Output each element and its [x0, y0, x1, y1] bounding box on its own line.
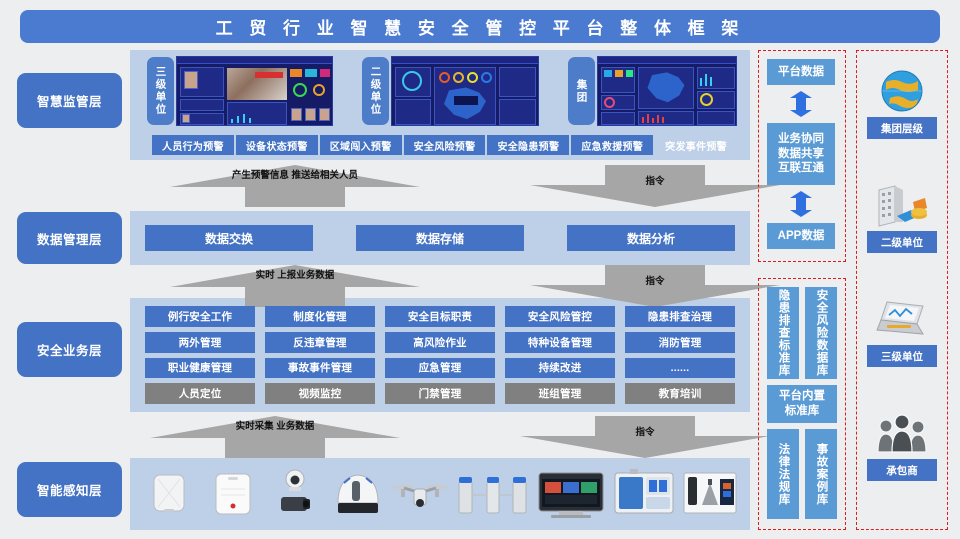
risk-database-library[interactable]: 安全风险数据库 — [805, 287, 837, 379]
warning-tag-behavior[interactable]: 人员行为预警 — [152, 135, 234, 155]
org-label-level3: 三级单位 — [867, 345, 937, 367]
arrow-label-command-3: 指令 — [520, 427, 770, 439]
warning-tag-rescue[interactable]: 应急救援预警 — [571, 135, 653, 155]
org-item-group[interactable]: 集团层级 — [867, 65, 937, 139]
org-item-contractor[interactable]: 承包商 — [867, 407, 937, 481]
arrow-strip-supervision-data: 产生预警信息 推送给相关人员 指令 — [130, 165, 750, 211]
people-group-icon — [867, 407, 937, 459]
business-tile[interactable]: 特种设备管理 — [505, 332, 615, 353]
data-tile-analysis[interactable]: 数据分析 — [567, 225, 735, 251]
org-label-contractor: 承包商 — [867, 459, 937, 481]
unit-tag-group: 集团 — [568, 57, 595, 125]
business-tile[interactable]: 持续改进 — [505, 358, 615, 379]
warning-tag-intrusion[interactable]: 区域闯入预警 — [320, 135, 402, 155]
warning-tag-hazard[interactable]: 安全隐患预警 — [487, 135, 569, 155]
org-item-level3[interactable]: 三级单位 — [867, 293, 937, 367]
org-item-level2[interactable]: 二级单位 — [867, 179, 937, 253]
business-tile[interactable]: 消防管理 — [625, 332, 735, 353]
platform-data-panel: 平台数据 业务协同 数据共享 互联互通 APP数据 — [758, 50, 846, 262]
dashboard-body — [598, 64, 736, 125]
warning-tag-equipment[interactable]: 设备状态预警 — [236, 135, 318, 155]
ptz-camera-icon[interactable] — [265, 465, 325, 523]
org-label-group: 集团层级 — [867, 117, 937, 139]
buildings-icon — [867, 179, 937, 231]
platform-data-box[interactable]: 平台数据 — [767, 59, 835, 85]
warning-tag-emergency[interactable]: 突发事件预警 — [655, 135, 737, 155]
layer-label-business: 安全业务层 — [17, 322, 122, 377]
globe-icon — [867, 65, 937, 117]
dashboard-body — [177, 64, 332, 125]
app-data-box[interactable]: APP数据 — [767, 223, 835, 249]
arrow-label-realtime-report: 实时 上报业务数据 — [170, 270, 420, 282]
layer-label-data: 数据管理层 — [17, 212, 122, 264]
business-tile[interactable]: ...... — [625, 358, 735, 379]
arrow-label-alert-push: 产生预警信息 推送给相关人员 — [170, 170, 420, 182]
person-monitoring-dashboard[interactable] — [176, 56, 333, 126]
vr-projector-icon[interactable] — [680, 465, 740, 523]
map-overview-dashboard[interactable] — [391, 56, 539, 126]
alarm-box-icon[interactable] — [203, 465, 263, 523]
business-tile[interactable]: 制度化管理 — [265, 306, 375, 327]
bidirectional-arrow-bottom — [790, 191, 812, 217]
org-label-level2: 二级单位 — [867, 231, 937, 253]
drone-icon[interactable] — [390, 465, 450, 523]
business-tile[interactable]: 门禁管理 — [385, 383, 495, 404]
business-tile[interactable]: 人员定位 — [145, 383, 255, 404]
arrow-down-command-1: 指令 — [530, 165, 780, 207]
bidirectional-arrow-top — [790, 91, 812, 117]
unit-tag-level3: 三级单位 — [147, 57, 174, 125]
touch-display-icon[interactable] — [535, 465, 607, 523]
business-tile[interactable]: 高风险作业 — [385, 332, 495, 353]
builtin-standard-library[interactable]: 平台内置 标准库 — [767, 385, 837, 423]
business-tile[interactable]: 班组管理 — [505, 383, 615, 404]
data-tile-exchange[interactable]: 数据交换 — [145, 225, 313, 251]
arrow-up-realtime-collect: 实时采集 业务数据 — [150, 416, 400, 458]
business-tile[interactable]: 视频监控 — [265, 383, 375, 404]
page-title: 工 贸 行 业 智 慧 安 全 管 控 平 台 整 体 框 架 — [20, 10, 940, 43]
business-tile[interactable]: 反违章管理 — [265, 332, 375, 353]
turnstile-gate-icon[interactable] — [453, 465, 533, 523]
business-tile[interactable]: 隐患排查治理 — [625, 306, 735, 327]
data-tile-storage[interactable]: 数据存储 — [356, 225, 524, 251]
arrow-strip-business-sense: 实时采集 业务数据 指令 — [130, 416, 750, 462]
hazard-inspection-library[interactable]: 隐患排查标准库 — [767, 287, 799, 379]
business-tile[interactable]: 例行安全工作 — [145, 306, 255, 327]
business-module-grid: 例行安全工作制度化管理安全目标职责安全风险管控隐患排查治理两外管理反违章管理高风… — [145, 306, 735, 404]
business-tile[interactable]: 教育培训 — [625, 383, 735, 404]
info-kiosk-icon[interactable] — [610, 465, 678, 523]
organization-hierarchy-panel: 集团层级 二级单位 三级单位 承包商 — [856, 50, 948, 530]
arrow-strip-data-business: 实时 上报业务数据 指令 — [130, 265, 750, 311]
business-tile[interactable]: 两外管理 — [145, 332, 255, 353]
warning-type-row: 人员行为预警 设备状态预警 区域闯入预警 安全风险预警 安全隐患预警 应急救援预… — [152, 135, 737, 155]
layer-label-sense: 智能感知层 — [17, 462, 122, 517]
dashboard-header — [177, 57, 332, 64]
arrow-up-realtime-report: 实时 上报业务数据 — [170, 265, 420, 307]
unit-tag-level2: 二级单位 — [362, 57, 389, 125]
business-tile[interactable]: 事故事件管理 — [265, 358, 375, 379]
dashboard-header — [392, 57, 538, 64]
business-tile[interactable]: 职业健康管理 — [145, 358, 255, 379]
data-layer-tiles: 数据交换 数据存储 数据分析 — [145, 225, 735, 251]
warning-tag-risk[interactable]: 安全风险预警 — [404, 135, 486, 155]
arrow-label-command-1: 指令 — [530, 176, 780, 188]
laptop-icon — [867, 293, 937, 345]
accident-case-library[interactable]: 事故案例库 — [805, 429, 837, 519]
business-tile[interactable]: 应急管理 — [385, 358, 495, 379]
dashboard-header — [598, 57, 736, 64]
layer-label-supervision: 智慧监管层 — [17, 73, 122, 128]
arrow-label-command-2: 指令 — [530, 276, 780, 288]
arrow-down-command-2: 指令 — [530, 265, 780, 307]
arrow-down-command-3: 指令 — [520, 416, 770, 458]
business-tile[interactable]: 安全目标职责 — [385, 306, 495, 327]
group-command-dashboard[interactable] — [597, 56, 737, 126]
knowledge-library-panel: 隐患排查标准库 安全风险数据库 平台内置 标准库 法律法规库 事故案例库 — [758, 278, 846, 530]
law-regulation-library[interactable]: 法律法规库 — [767, 429, 799, 519]
business-tile[interactable]: 安全风险管控 — [505, 306, 615, 327]
device-row — [140, 463, 740, 525]
arrow-label-realtime-collect: 实时采集 业务数据 — [150, 421, 400, 433]
smart-helmet-icon[interactable] — [328, 465, 388, 523]
arrow-up-alert-push: 产生预警信息 推送给相关人员 — [170, 165, 420, 207]
sensor-panel-icon[interactable] — [140, 465, 200, 523]
dashboard-body — [392, 64, 538, 125]
